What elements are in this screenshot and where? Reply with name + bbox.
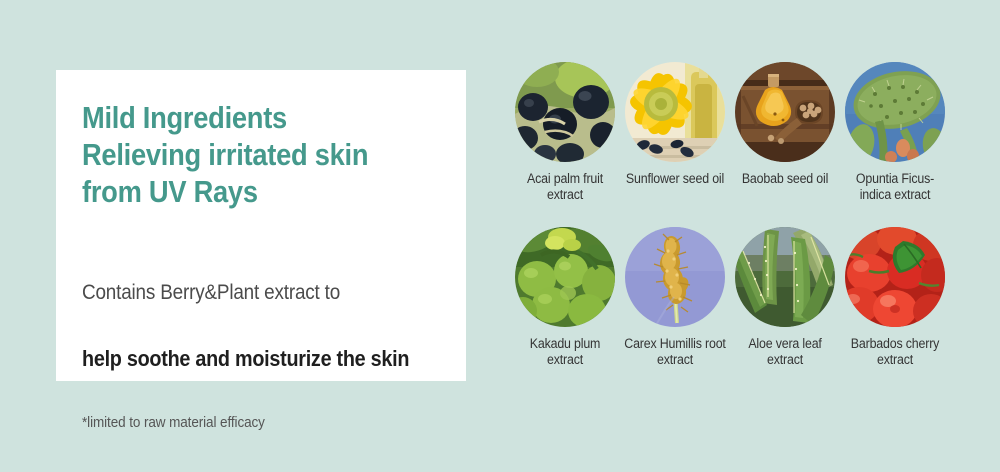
- sunflower-and-oil-photo: [625, 62, 725, 162]
- page-title: Mild Ingredients Relieving irritated ski…: [82, 99, 368, 210]
- ingredient-grid: Acai palm fruit extract: [500, 62, 980, 392]
- ingredient-label: Acai palm fruit extract: [512, 171, 619, 203]
- ingredient-item-baobab: Baobab seed oil: [727, 62, 843, 187]
- baobab-oil-bottle-photo: [735, 62, 835, 162]
- ingredient-label: Carex Humillis root extract: [622, 336, 729, 368]
- acai-berries-photo: [515, 62, 615, 162]
- ingredient-item-carex: Carex Humillis root extract: [617, 227, 733, 368]
- prickly-pear-cactus-photo: [845, 62, 945, 162]
- ingredient-row-1: Acai palm fruit extract: [500, 62, 980, 222]
- ingredient-label: Baobab seed oil: [732, 171, 839, 187]
- ingredient-label: Kakadu plum extract: [512, 336, 619, 368]
- ingredient-row-2: Kakadu plum extract: [500, 227, 980, 387]
- ingredient-item-barbados-cherry: Barbados cherry extract: [837, 227, 953, 368]
- aloe-vera-leaves-photo: [735, 227, 835, 327]
- ingredient-label: Sunflower seed oil: [622, 171, 729, 187]
- kakadu-plum-photo: [515, 227, 615, 327]
- body-line-primary: Contains Berry&Plant extract to: [82, 279, 409, 307]
- ingredient-item-kakadu-plum: Kakadu plum extract: [507, 227, 623, 368]
- ingredient-label: Opuntia Ficus-indica extract: [842, 171, 949, 203]
- ingredient-item-opuntia: Opuntia Ficus-indica extract: [837, 62, 953, 203]
- ingredient-label: Aloe vera leaf extract: [732, 336, 839, 368]
- ingredient-item-aloe: Aloe vera leaf extract: [727, 227, 843, 368]
- body-line-emphasis: help soothe and moisturize the skin: [82, 343, 409, 374]
- ingredient-item-sunflower: Sunflower seed oil: [617, 62, 733, 187]
- info-card: Mild Ingredients Relieving irritated ski…: [56, 70, 466, 381]
- body-copy: Contains Berry&Plant extract to help soo…: [82, 243, 409, 472]
- ingredient-label: Barbados cherry extract: [842, 336, 949, 368]
- barbados-cherries-photo: [845, 227, 945, 327]
- body-line-disclaimer: *limited to raw material efficacy: [82, 410, 409, 436]
- ingredient-item-acai: Acai palm fruit extract: [507, 62, 623, 203]
- carex-humillis-spike-photo: [625, 227, 725, 327]
